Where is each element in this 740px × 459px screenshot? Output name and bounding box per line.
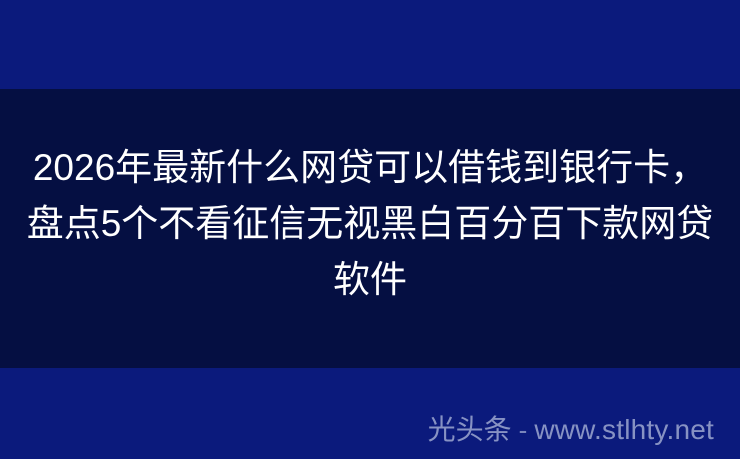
watermark-site-name: 光头条	[428, 413, 512, 447]
watermark-url: www.stlhty.net	[534, 413, 714, 447]
cover-image-canvas: 2026年最新什么网贷可以借钱到银行卡，盘点5个不看征信无视黑白百分百下款网贷软…	[0, 0, 740, 459]
watermark-separator: -	[519, 413, 528, 447]
headline-title: 2026年最新什么网贷可以借钱到银行卡，盘点5个不看征信无视黑白百分百下款网贷软…	[0, 140, 740, 308]
watermark: 光头条 - www.stlhty.net	[428, 413, 714, 447]
top-color-band	[0, 0, 740, 89]
